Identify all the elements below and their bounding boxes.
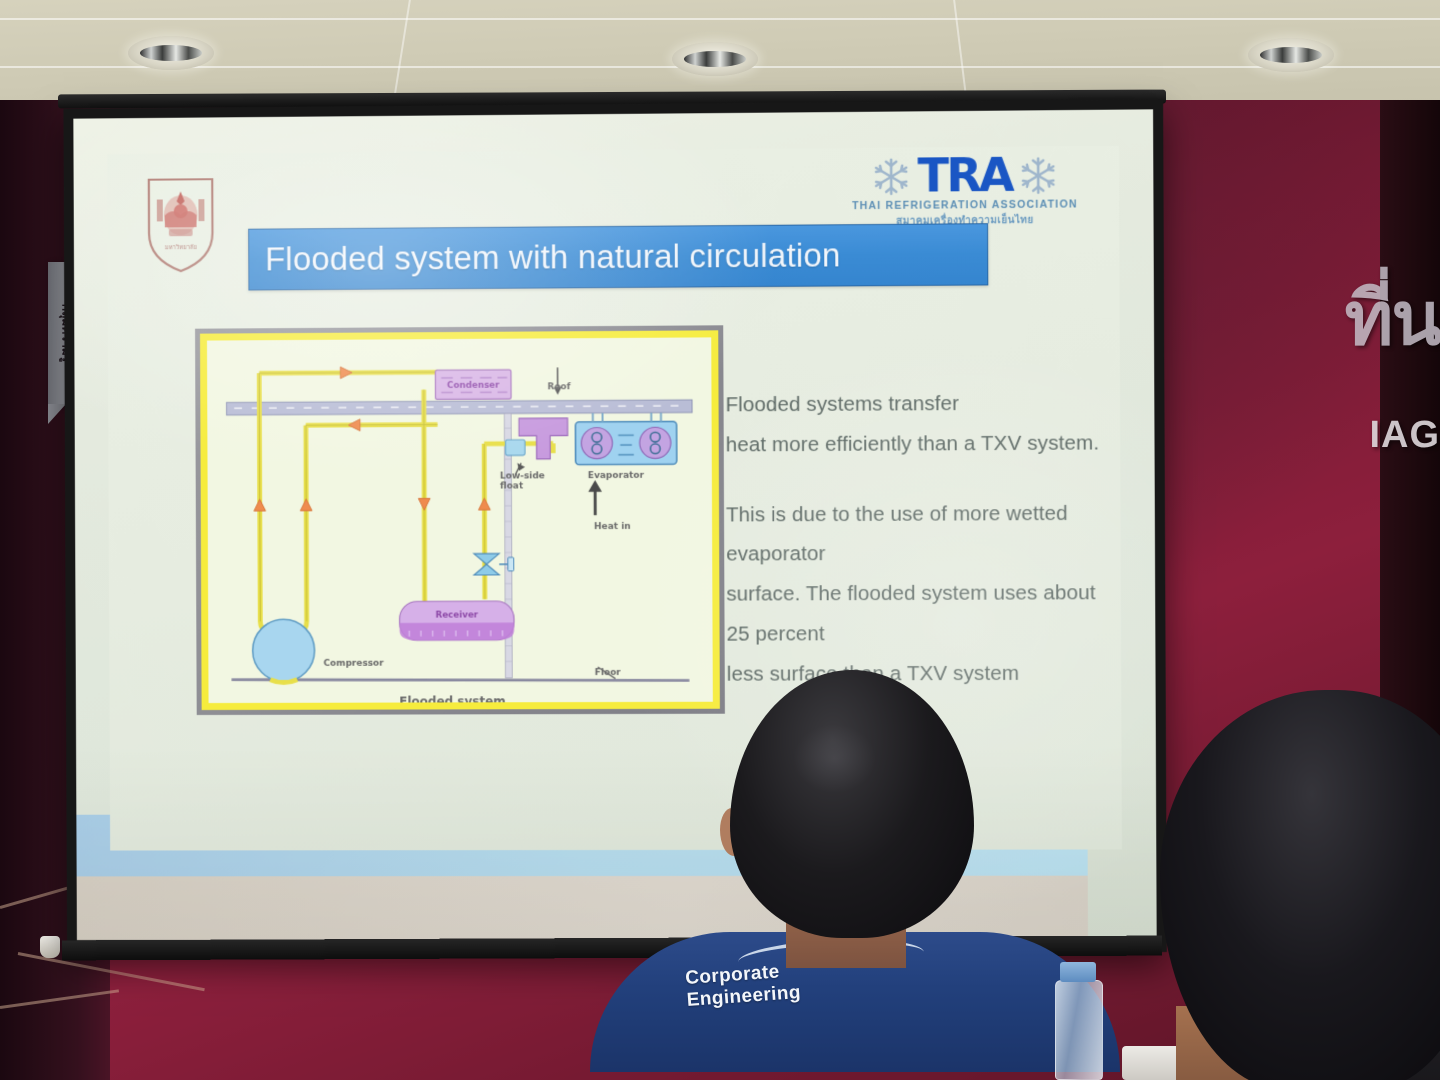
body-p2-line3: less surface than a TXV system [727, 653, 1105, 694]
diagram-label-low-side-float: Low-sidefloat [500, 471, 545, 492]
slide-canvas: มหาวิทยาลัย [107, 146, 1122, 851]
desk-object [1122, 1046, 1184, 1080]
page-title: Flooded system with natural circulation [265, 236, 841, 278]
wall-thai-text: ที่น [1345, 282, 1440, 356]
tra-brand-text: TRA [918, 155, 1012, 197]
svg-text:มหาวิทยาลัย: มหาวิทยาลัย [165, 244, 197, 251]
diagram-label-heat-in: Heat in [594, 522, 631, 532]
shirt-logo-text: Corporate Engineering [685, 960, 802, 1012]
ceiling-light-icon [128, 36, 214, 70]
projector-screen-surface: มหาวิทยาลัย [73, 109, 1156, 940]
snowflake-icon [871, 156, 911, 196]
refrigeration-diagram: Condenser [195, 325, 725, 715]
water-bottle-body [1055, 980, 1103, 1080]
presentation-room-photo: ที่น IAG กลุ่มความรู้ [0, 0, 1440, 1080]
ceiling-light-icon [1248, 38, 1334, 72]
diagram-label-roof: Roof [547, 382, 570, 392]
body-p1-line2: heat more efficiently than a TXV system. [726, 423, 1104, 465]
wall-sign-partial: IAG [1369, 414, 1440, 457]
water-bottle [1052, 962, 1106, 1080]
diagram-label-compressor: Compressor [324, 659, 384, 669]
body-p2-line1: This is due to the use of more wetted ev… [726, 493, 1105, 574]
projector-screen: มหาวิทยาลัย [63, 99, 1166, 952]
thai-university-shield-emblem: มหาวิทยาลัย [143, 171, 219, 275]
snowflake-icon [1018, 155, 1059, 195]
body-p2-line2: surface. The flooded system uses about 2… [726, 573, 1105, 654]
diagram-caption: Flooded system [399, 694, 505, 708]
diagram-label-evaporator: Evaporator [588, 471, 644, 481]
water-bottle-cap [1060, 962, 1096, 982]
body-p1-line1: Flooded systems transfer [725, 383, 1103, 425]
slide-title-bar: Flooded system with natural circulation [248, 223, 988, 290]
ceiling-light-icon [672, 42, 758, 76]
svg-text:Receiver: Receiver [435, 611, 478, 621]
slide-body-text: Flooded systems transfer heat more effic… [725, 383, 1105, 694]
diagram-label-floor: Floor [595, 668, 621, 678]
projector-screen-knob [40, 936, 60, 958]
svg-text:Condenser: Condenser [447, 380, 500, 390]
tra-subtitle: THAI REFRIGERATION ASSOCIATION [831, 199, 1099, 213]
